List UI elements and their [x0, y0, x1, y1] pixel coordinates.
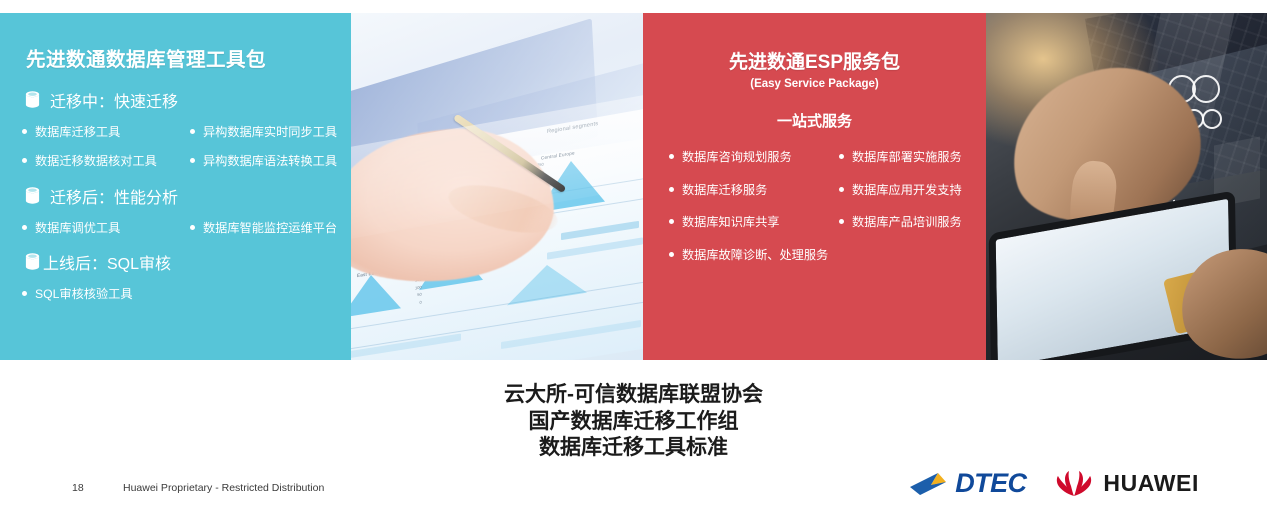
dtec-arrow-icon — [908, 470, 954, 498]
list-item: 数据库产品培训服务 — [839, 215, 972, 230]
page-number: 18 — [72, 482, 84, 494]
list-item: 数据库应用开发支持 — [839, 183, 972, 198]
list-item-label: 异构数据库语法转换工具 — [203, 154, 337, 169]
list-item-label: 数据库迁移服务 — [682, 183, 767, 198]
bullet-dot-icon — [22, 129, 27, 134]
list-item: 异构数据库语法转换工具 — [190, 154, 339, 169]
left-product-panel: 先进数通数据库管理工具包 迁移中：快速迁移 数据库迁移工具 异构数据库实时同步工… — [0, 13, 351, 360]
list-item-label: 数据库故障诊断、处理服务 — [682, 248, 828, 263]
bullet-dot-icon — [669, 252, 674, 257]
huawei-flower-icon — [1054, 469, 1094, 499]
database-icon — [24, 252, 41, 272]
list-item-label: SQL审核核验工具 — [35, 287, 133, 302]
photo-ring-icon — [1202, 109, 1222, 129]
list-item-label: 数据库智能监控运维平台 — [203, 221, 337, 236]
bullet-dot-icon — [839, 219, 844, 224]
bullet-dot-icon — [22, 158, 27, 163]
huawei-logo: HUAWEI — [1054, 469, 1199, 499]
bullet-dot-icon — [839, 154, 844, 159]
right-panel-title: 先进数通ESP服务包 — [657, 47, 972, 74]
banner-row: 先进数通数据库管理工具包 迁移中：快速迁移 数据库迁移工具 异构数据库实时同步工… — [0, 13, 1267, 360]
left-section-heading-after-migration: 迁移后：性能分析 — [24, 184, 339, 208]
list-item: 数据库迁移服务 — [669, 183, 839, 198]
left-bullets-migrating: 数据库迁移工具 异构数据库实时同步工具 数据迁移数据核对工具 异构数据库语法转换… — [22, 125, 339, 168]
list-item: 数据迁移数据核对工具 — [22, 154, 190, 169]
bullet-dot-icon — [190, 129, 195, 134]
left-section-heading-after-migration-label: 迁移后：性能分析 — [50, 184, 178, 208]
list-item: 数据库知识库共享 — [669, 215, 839, 230]
list-item-label: 异构数据库实时同步工具 — [203, 125, 337, 140]
bullet-dot-icon — [669, 219, 674, 224]
list-item-label: 数据库应用开发支持 — [852, 183, 962, 198]
left-section-heading-migrating-label: 迁移中：快速迁移 — [50, 88, 178, 112]
list-item: 数据库故障诊断、处理服务 — [669, 248, 972, 263]
database-icon — [24, 90, 41, 110]
right-service-panel: 先进数通ESP服务包 (Easy Service Package) 一站式服务 … — [643, 13, 986, 360]
list-item-label: 数据库咨询规划服务 — [682, 150, 792, 165]
photo-tablet-hologram — [986, 13, 1267, 360]
list-item-label: 数据库产品培训服务 — [852, 215, 962, 230]
bottom-title-line-2: 国产数据库迁移工作组 — [0, 409, 1267, 436]
list-item: 异构数据库实时同步工具 — [190, 125, 339, 140]
left-section-heading-migrating: 迁移中：快速迁移 — [24, 88, 339, 112]
confidentiality-note: Huawei Proprietary - Restricted Distribu… — [123, 482, 324, 494]
bullet-dot-icon — [669, 154, 674, 159]
footer-logos: DTEC HUAWEI — [908, 468, 1199, 499]
left-panel-title: 先进数通数据库管理工具包 — [26, 43, 339, 72]
bottom-title-line-1: 云大所-可信数据库联盟协会 — [0, 382, 1267, 409]
left-section-heading-after-golive-label: 上线后：SQL审核 — [43, 250, 171, 274]
left-bullets-after-migration: 数据库调优工具 数据库智能监控运维平台 — [22, 221, 339, 236]
left-section-heading-after-golive: 上线后：SQL审核 — [24, 250, 339, 274]
right-panel-subtitle: (Easy Service Package) — [657, 78, 972, 90]
list-item-label: 数据迁移数据核对工具 — [35, 154, 157, 169]
right-panel-section-heading: 一站式服务 — [657, 110, 972, 131]
list-item: 数据库调优工具 — [22, 221, 190, 236]
list-item: 数据库迁移工具 — [22, 125, 190, 140]
right-bullets: 数据库咨询规划服务 数据库部署实施服务 数据库迁移服务 数据库应用开发支持 数据… — [669, 150, 972, 263]
bullet-dot-icon — [190, 158, 195, 163]
photo-hand-writing-charts: Regional segments Central Europe East Eu… — [351, 13, 643, 360]
bullet-dot-icon — [190, 225, 195, 230]
list-item-label: 数据库部署实施服务 — [852, 150, 962, 165]
list-item: 数据库部署实施服务 — [839, 150, 972, 165]
database-icon — [24, 186, 41, 206]
bottom-title-block: 云大所-可信数据库联盟协会 国产数据库迁移工作组 数据库迁移工具标准 — [0, 382, 1267, 462]
bottom-title-line-3: 数据库迁移工具标准 — [0, 435, 1267, 462]
list-item: 数据库智能监控运维平台 — [190, 221, 339, 236]
bullet-dot-icon — [22, 225, 27, 230]
bullet-dot-icon — [839, 187, 844, 192]
list-item: SQL审核核验工具 — [22, 287, 339, 302]
dtec-logo: DTEC — [908, 468, 1026, 499]
dtec-logo-text: DTEC — [955, 468, 1026, 499]
left-bullets-after-golive: SQL审核核验工具 — [22, 287, 339, 302]
huawei-logo-text: HUAWEI — [1103, 470, 1199, 497]
list-item-label: 数据库知识库共享 — [682, 215, 780, 230]
slide-root: 先进数通数据库管理工具包 迁移中：快速迁移 数据库迁移工具 异构数据库实时同步工… — [0, 0, 1267, 510]
photo-ring-icon — [1192, 75, 1220, 103]
list-item-label: 数据库调优工具 — [35, 221, 120, 236]
bullet-dot-icon — [22, 291, 27, 296]
bullet-dot-icon — [669, 187, 674, 192]
list-item: 数据库咨询规划服务 — [669, 150, 839, 165]
list-item-label: 数据库迁移工具 — [35, 125, 120, 140]
